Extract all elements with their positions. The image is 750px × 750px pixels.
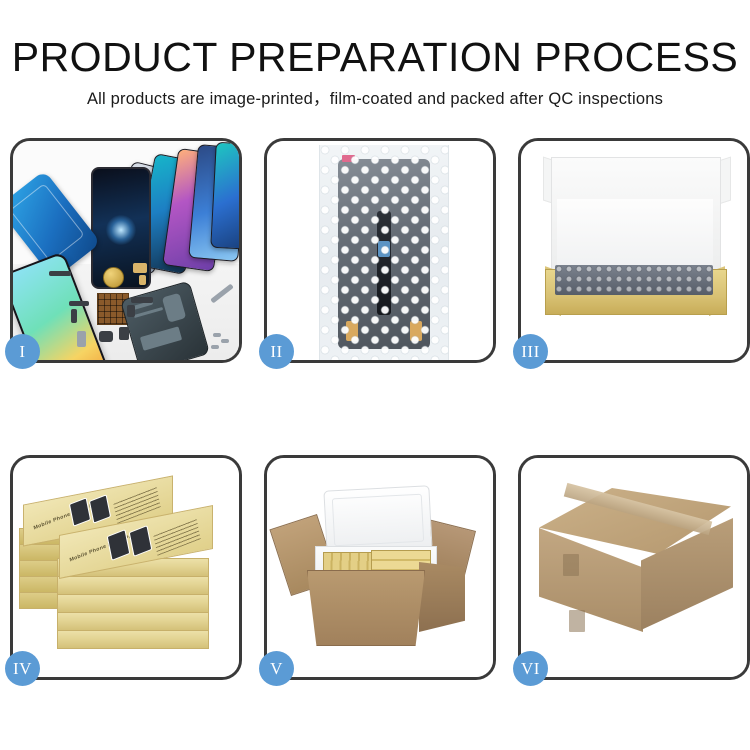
process-step-panel-2[interactable]: II — [264, 138, 496, 363]
step-badge-4: IV — [5, 651, 40, 686]
page-subtitle: All products are image-printed，film-coat… — [0, 89, 750, 109]
step-badge-3: III — [513, 334, 548, 369]
bubble-packed-parts-icon — [555, 265, 713, 295]
step-5-illustration — [267, 458, 493, 677]
step-badge-6: VI — [513, 651, 548, 686]
carton-body-icon — [307, 570, 425, 646]
page-header: PRODUCT PREPARATION PROCESS All products… — [0, 0, 750, 109]
process-step-panel-6[interactable]: VI — [518, 455, 750, 680]
foam-lid-icon — [323, 485, 432, 554]
speaker-coil-icon — [103, 267, 124, 288]
step-3-illustration — [521, 141, 747, 360]
bubble-wrap-bag-icon — [319, 145, 449, 360]
box-stack-icon: Mobile Phone Spare Parts Mobile Phone Sp… — [19, 476, 235, 668]
process-step-panel-3[interactable]: III — [518, 138, 750, 363]
step-4-illustration: Mobile Phone Spare Parts Mobile Phone Sp… — [13, 458, 239, 677]
step-1-illustration — [13, 141, 239, 360]
process-step-panel-1[interactable]: I — [10, 138, 242, 363]
step-6-illustration — [521, 458, 747, 677]
process-step-panel-5[interactable]: V — [264, 455, 496, 680]
page-title: PRODUCT PREPARATION PROCESS — [0, 34, 750, 80]
step-badge-1: I — [5, 334, 40, 369]
step-badge-2: II — [259, 334, 294, 369]
step-badge-5: V — [259, 651, 294, 686]
step-2-illustration — [267, 141, 493, 360]
process-step-grid: I II — [0, 138, 750, 680]
process-step-panel-4[interactable]: Mobile Phone Spare Parts Mobile Phone Sp… — [10, 455, 242, 680]
